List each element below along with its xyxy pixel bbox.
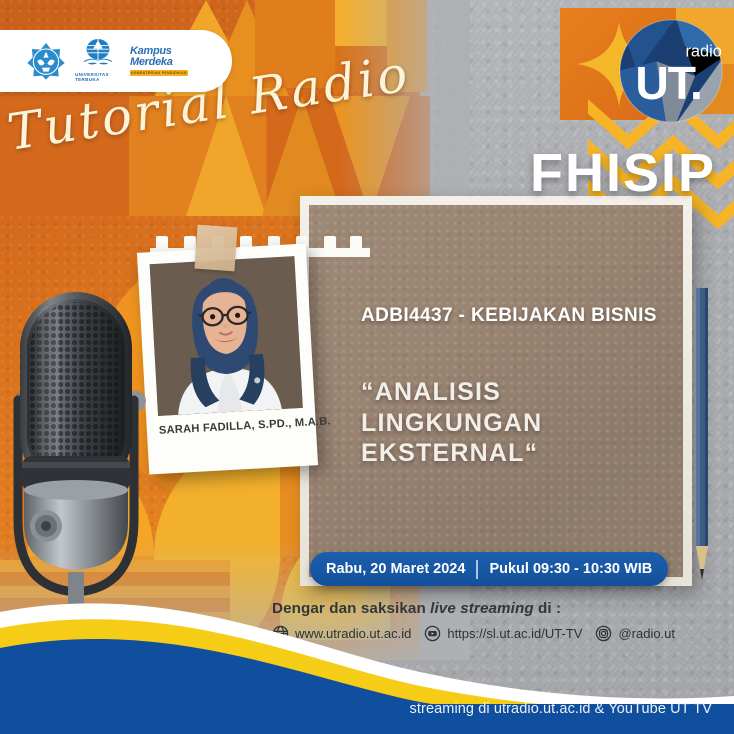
kampus-merdeka-tagline: KEMENTERIAN PENDIDIKAN xyxy=(131,71,187,75)
tut-wuri-handayani-logo xyxy=(26,41,66,81)
universitas-terbuka-logo: UNIVERSITAS TERBUKA xyxy=(75,37,121,85)
ut-radio-logo: radio UT. xyxy=(618,18,724,124)
speaker-name: SARAH FADILLA, S.PD., M.A.B. xyxy=(159,417,304,437)
course-code: ADBI4437 - KEBIJAKAN BISNIS xyxy=(361,305,657,327)
speaker-photo xyxy=(150,256,303,416)
footer-streaming-note: streaming di utradio.ut.ac.id & YouTube … xyxy=(410,701,712,717)
speaker-polaroid: SARAH FADILLA, S.PD., M.A.B. xyxy=(137,243,318,474)
pencil-decoration xyxy=(694,288,710,588)
faculty-title: FHISIP xyxy=(530,142,716,204)
universitas-terbuka-caption: UNIVERSITAS TERBUKA xyxy=(75,72,121,82)
course-title: “ANALISIS LINGKUNGAN EKSTERNAL“ xyxy=(361,377,669,469)
poster-canvas: UNIVERSITAS TERBUKA Kampus Merdeka KEMEN… xyxy=(0,0,734,734)
kampus-merdeka-tagline-bar: KEMENTERIAN PENDIDIKAN xyxy=(130,70,188,76)
tape-strip xyxy=(195,225,238,272)
institution-logo-bar: UNIVERSITAS TERBUKA Kampus Merdeka KEMEN… xyxy=(0,30,232,92)
kampus-merdeka-logo: Kampus Merdeka KEMENTERIAN PENDIDIKAN xyxy=(130,46,188,76)
ut-radio-mark: UT. xyxy=(635,57,701,109)
kampus-merdeka-line2: Merdeka xyxy=(130,57,173,68)
